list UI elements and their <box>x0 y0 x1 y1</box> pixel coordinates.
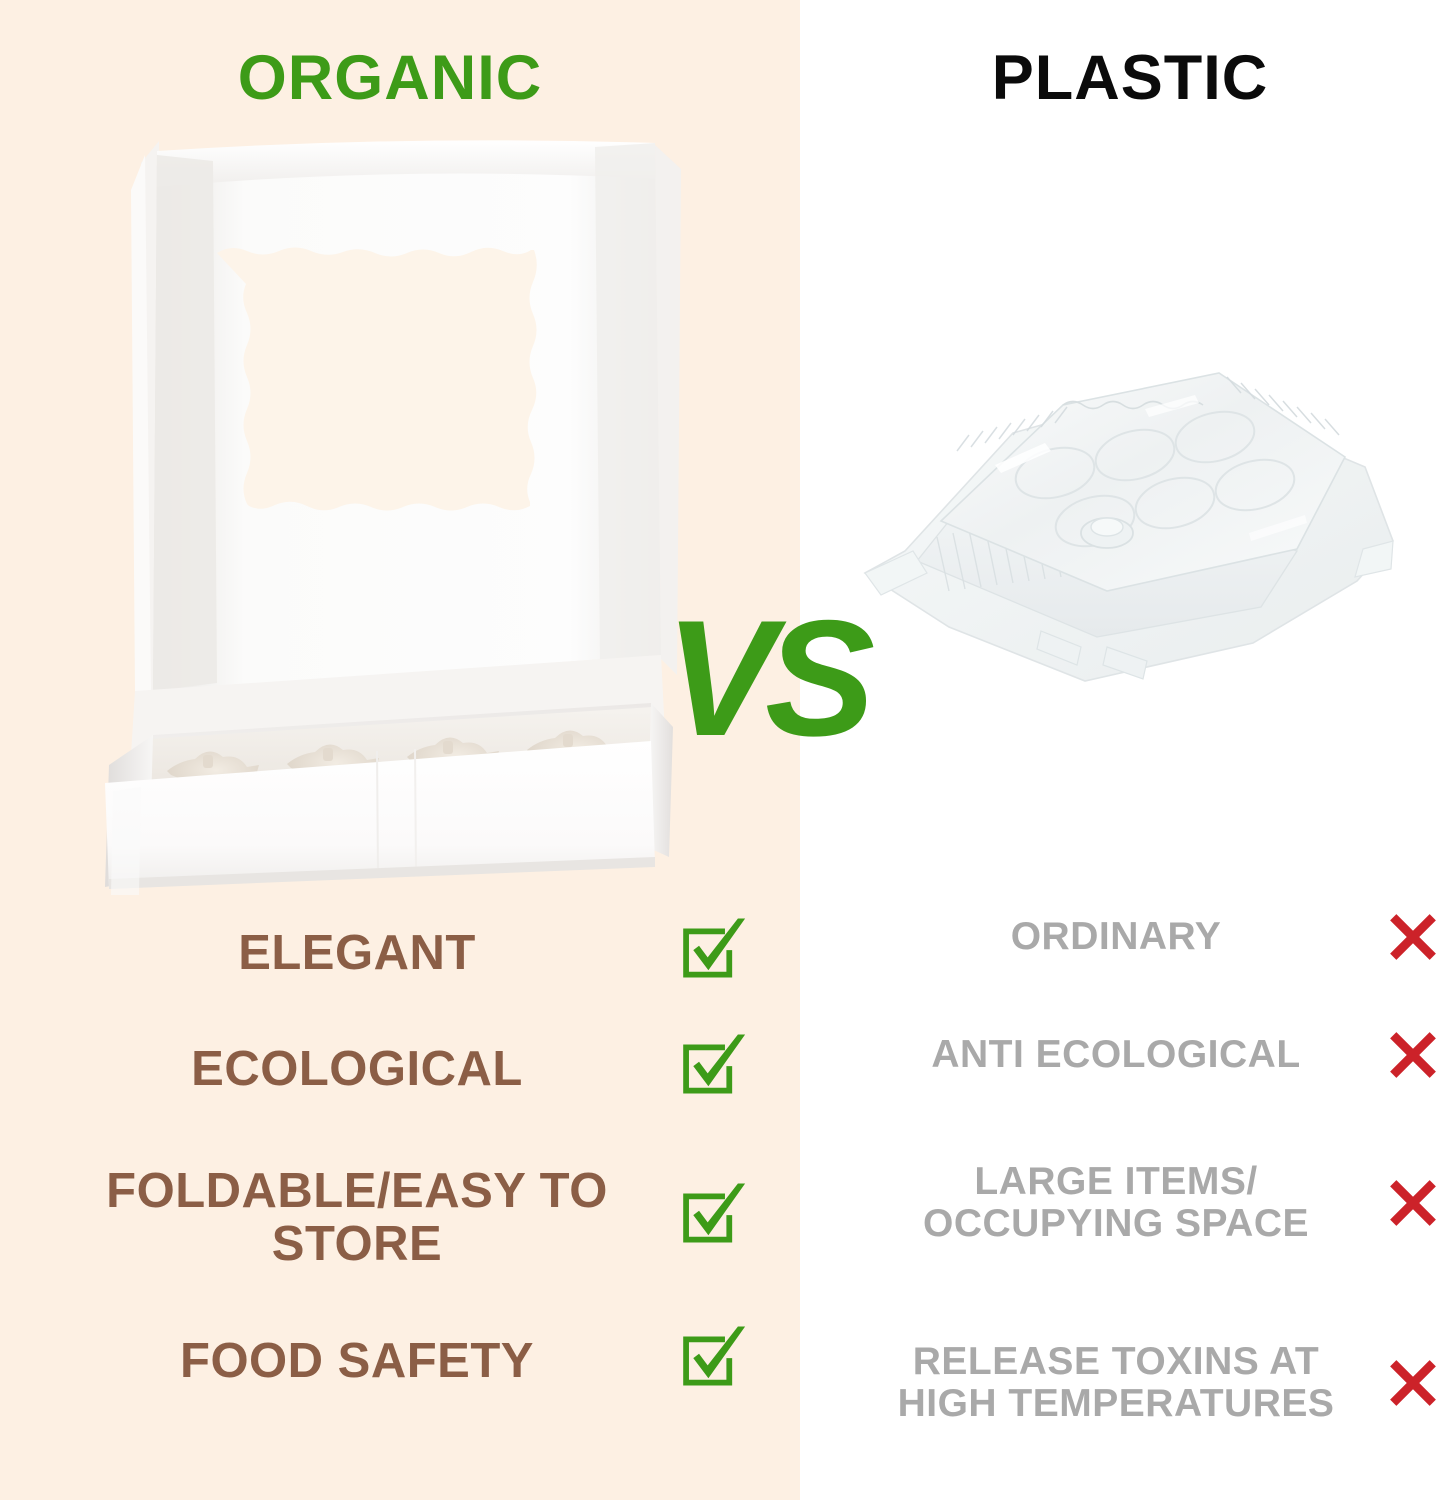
check-box-icon <box>664 905 760 1001</box>
plastic-feature-row: RELEASE TOXINS AT HIGH TEMPERATURES <box>870 1318 1450 1448</box>
check-box-icon <box>664 1170 760 1266</box>
organic-product-image <box>95 135 685 895</box>
cross-icon <box>1376 900 1450 974</box>
plastic-feature-label: ORDINARY <box>870 916 1376 958</box>
plastic-product-image <box>845 345 1415 715</box>
organic-feature-row: ECOLOGICAL <box>60 1021 760 1117</box>
check-box-icon <box>664 1021 760 1117</box>
plastic-feature-list: ORDINARY ANTI ECOLOGICAL LARGE ITEMS/ OC… <box>870 900 1450 1454</box>
organic-feature-row: FOLDABLE/EASY TO STORE <box>60 1143 760 1293</box>
plastic-feature-row: ORDINARY <box>870 900 1450 974</box>
plastic-feature-label: LARGE ITEMS/ OCCUPYING SPACE <box>870 1161 1376 1245</box>
organic-feature-label: ELEGANT <box>60 927 664 980</box>
organic-heading: ORGANIC <box>0 47 780 110</box>
organic-feature-label: FOLDABLE/EASY TO STORE <box>60 1165 664 1271</box>
cross-icon <box>1376 1166 1450 1240</box>
plastic-feature-label: RELEASE TOXINS AT HIGH TEMPERATURES <box>870 1341 1376 1425</box>
plastic-feature-label: ANTI ECOLOGICAL <box>870 1034 1376 1076</box>
organic-feature-row: ELEGANT <box>60 905 760 1001</box>
cross-icon <box>1376 1018 1450 1092</box>
check-box-icon <box>664 1313 760 1409</box>
plastic-feature-row: ANTI ECOLOGICAL <box>870 1018 1450 1092</box>
plastic-heading: PLASTIC <box>810 47 1450 110</box>
plastic-feature-row: LARGE ITEMS/ OCCUPYING SPACE <box>870 1138 1450 1268</box>
organic-feature-label: ECOLOGICAL <box>60 1043 664 1096</box>
comparison-infographic: ORGANIC PLASTIC <box>0 0 1455 1500</box>
versus-label: VS <box>660 588 870 768</box>
organic-feature-label: FOOD SAFETY <box>60 1335 664 1388</box>
cross-icon <box>1376 1346 1450 1420</box>
organic-feature-row: FOOD SAFETY <box>60 1313 760 1409</box>
organic-feature-list: ELEGANT ECOLOGICAL FOLDABLE/EASY TO STOR… <box>60 905 760 1415</box>
